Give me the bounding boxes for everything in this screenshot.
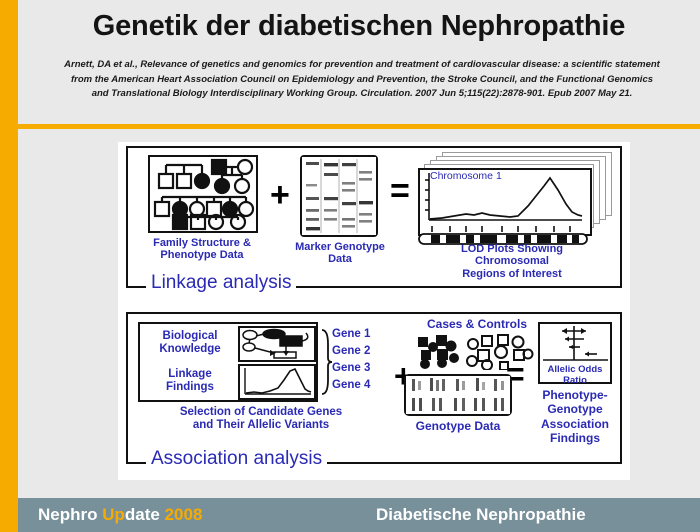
allelic-odds-ratio-box: Allelic Odds Ratio bbox=[538, 322, 612, 384]
candidate-gene-selection-box: Biological Knowledge Linkage Findings bbox=[138, 322, 318, 402]
linkage-analysis-panel: Family Structure & Phenotype Data + bbox=[118, 142, 630, 302]
lod-plot-stack bbox=[418, 152, 614, 238]
page-title: Genetik der diabetischen Nephropathie bbox=[18, 10, 700, 43]
family-structure-label: Family Structure & Phenotype Data bbox=[132, 237, 272, 262]
cases-controls-icon bbox=[416, 334, 540, 370]
gel-electrophoresis-icon bbox=[302, 157, 376, 235]
gene-list-item-1: Gene 1 bbox=[332, 328, 390, 341]
allelic-odds-ratio-label: Allelic Odds Ratio bbox=[540, 364, 610, 386]
figure-container: Family Structure & Phenotype Data + bbox=[118, 142, 630, 480]
gene-brace-icon bbox=[320, 328, 332, 396]
gene-list-item-4: Gene 4 bbox=[332, 379, 390, 392]
pathway-network-box bbox=[238, 326, 316, 362]
citation-text: Arnett, DA et al., Relevance of genetics… bbox=[62, 58, 662, 102]
association-analysis-panel: Biological Knowledge Linkage Findings bbox=[118, 308, 630, 480]
association-findings-label: Phenotype- Genotype Association Findings bbox=[524, 388, 626, 446]
linkage-findings-plot-box bbox=[238, 364, 316, 400]
candidate-genes-caption: Selection of Candidate Genes and Their A… bbox=[128, 406, 394, 432]
linkage-findings-label: Linkage Findings bbox=[142, 368, 238, 394]
forest-plot-icon bbox=[540, 324, 610, 366]
footer-section-title: Diabetische Nephropathie bbox=[376, 505, 586, 525]
genotype-data-label: Genotype Data bbox=[404, 420, 512, 433]
genotype-gel-icon bbox=[406, 376, 510, 414]
lod-plot-title: Chromosome 1 bbox=[430, 171, 502, 183]
header-divider bbox=[18, 124, 700, 129]
lod-plots-label: LOD Plots Showing Chromosomal Regions of… bbox=[414, 243, 610, 280]
biological-knowledge-label: Biological Knowledge bbox=[142, 330, 238, 356]
gene-list-item-3: Gene 3 bbox=[332, 362, 390, 375]
pathway-network-icon bbox=[240, 328, 314, 360]
footer-brand-part1: Nephro bbox=[38, 505, 102, 524]
pedigree-chart-icon bbox=[150, 157, 256, 231]
operator-equals-1: = bbox=[390, 174, 410, 208]
linkage-findings-mini-plot bbox=[240, 366, 314, 398]
footer-brand-accent1: Up bbox=[102, 505, 125, 524]
cases-controls-label: Cases & Controls bbox=[414, 318, 540, 331]
slide-body: Genetik der diabetischen Nephropathie Ar… bbox=[18, 0, 700, 490]
title-block: Genetik der diabetischen Nephropathie Ar… bbox=[18, 0, 700, 122]
marker-ticks-icon bbox=[418, 226, 588, 232]
operator-plus-1: + bbox=[270, 178, 290, 212]
gene-list-item-2: Gene 2 bbox=[332, 345, 390, 358]
left-accent-stripe bbox=[0, 0, 18, 532]
linkage-analysis-caption: Linkage analysis bbox=[146, 272, 296, 294]
marker-genotype-gel-box bbox=[300, 155, 378, 237]
footer-gap bbox=[18, 490, 700, 498]
marker-genotype-label: Marker Genotype Data bbox=[286, 241, 394, 266]
footer-bar: Nephro Update 2008 Diabetische Nephropat… bbox=[18, 498, 700, 532]
genotype-data-box bbox=[404, 374, 512, 416]
pedigree-chart-box bbox=[148, 155, 258, 233]
footer-brand: Nephro Update 2008 bbox=[38, 505, 202, 525]
footer-brand-accent2: 2008 bbox=[165, 505, 203, 524]
association-analysis-caption: Association analysis bbox=[146, 448, 327, 470]
footer-brand-part2: date bbox=[125, 505, 165, 524]
